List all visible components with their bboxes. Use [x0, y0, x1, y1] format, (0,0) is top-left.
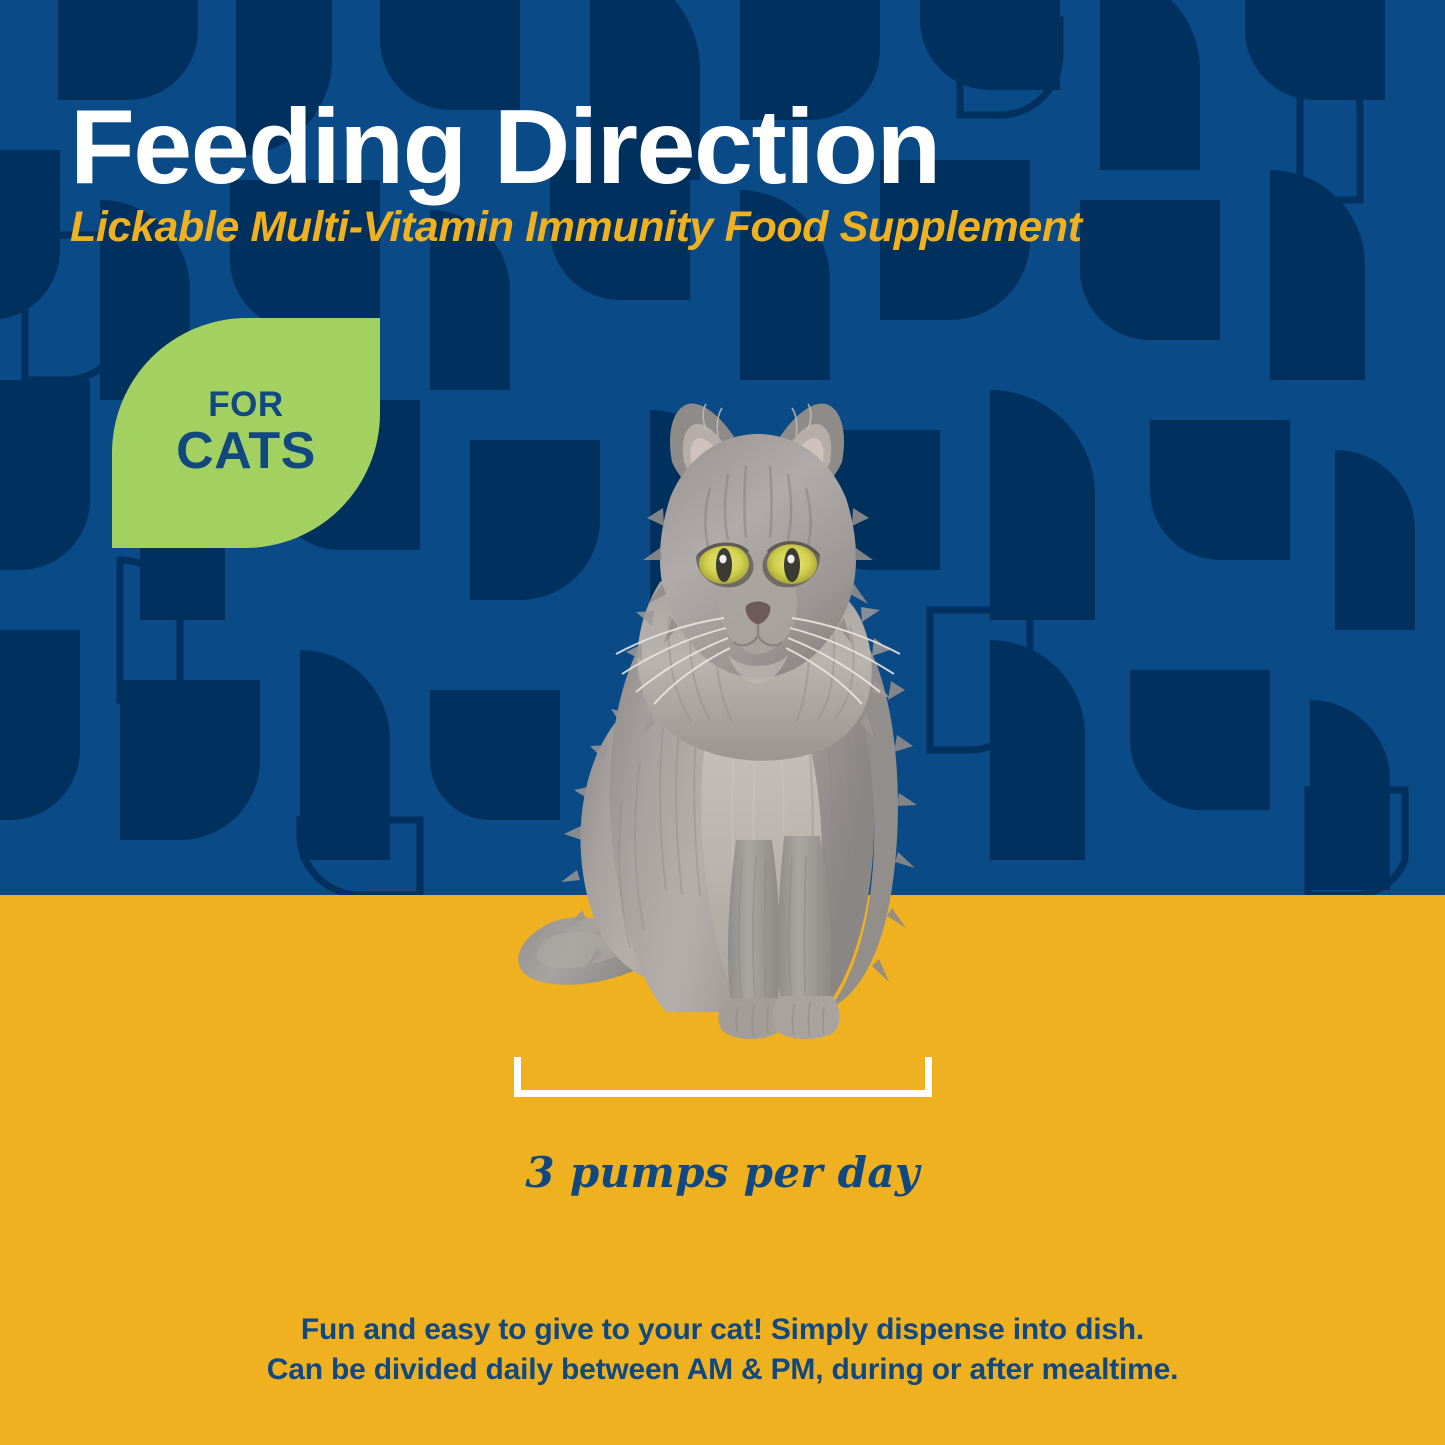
- page-title: Feeding Direction: [70, 94, 940, 200]
- badge-label-for: FOR: [208, 387, 283, 424]
- footer-line-1: Fun and easy to give to your cat! Simply…: [0, 1310, 1445, 1350]
- cat-illustration-icon: [470, 370, 970, 1050]
- page-subtitle: Lickable Multi-Vitamin Immunity Food Sup…: [70, 206, 1082, 249]
- feeding-direction-poster: Feeding Direction Lickable Multi-Vitamin…: [0, 0, 1445, 1445]
- badge-label-cats: CATS: [176, 424, 316, 479]
- footer-line-2: Can be divided daily between AM & PM, du…: [0, 1350, 1445, 1390]
- footer-instructions: Fun and easy to give to your cat! Simply…: [0, 1310, 1445, 1390]
- measure-bracket-icon: [514, 1057, 932, 1097]
- dose-caption: 3 pumps per day: [0, 1148, 1445, 1197]
